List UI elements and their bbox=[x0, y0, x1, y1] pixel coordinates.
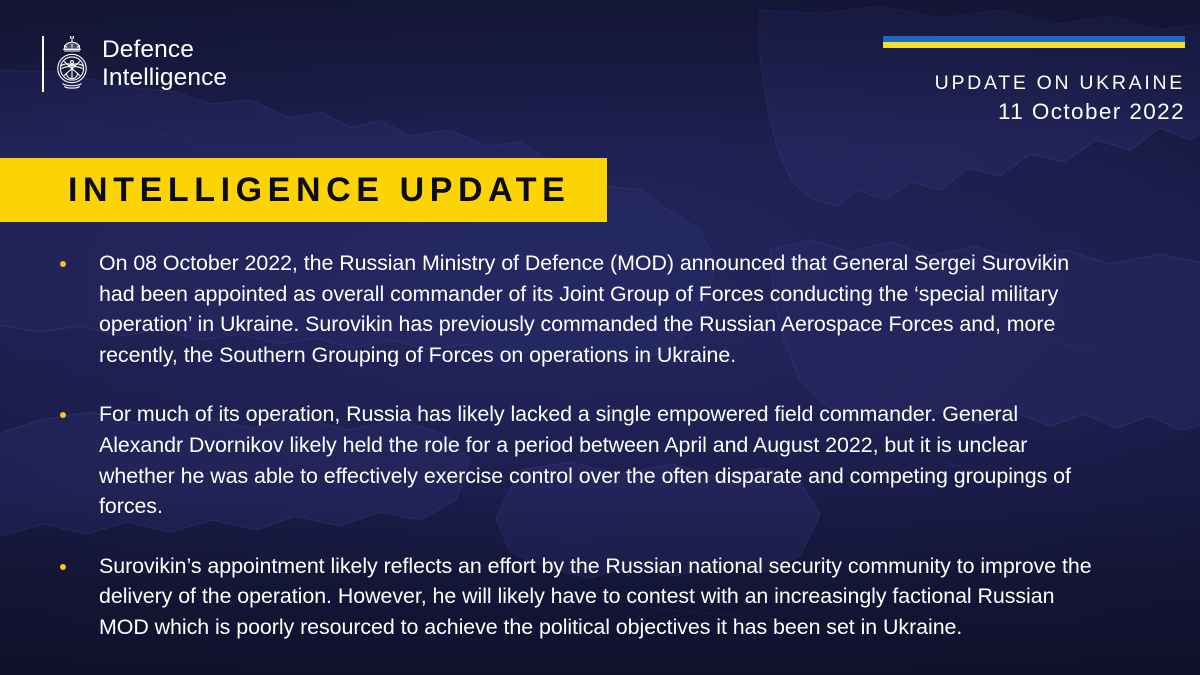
ukraine-flag-bar bbox=[883, 36, 1185, 48]
bullet-paragraph: On 08 October 2022, the Russian Ministry… bbox=[99, 248, 1099, 370]
list-item: On 08 October 2022, the Russian Ministry… bbox=[60, 248, 1170, 370]
bullet-dot-icon bbox=[60, 412, 66, 418]
header-right-block: UPDATE ON UKRAINE 11 October 2022 bbox=[883, 36, 1185, 127]
banner-title: INTELLIGENCE UPDATE bbox=[68, 173, 570, 207]
list-item: For much of its operation, Russia has li… bbox=[60, 399, 1170, 521]
intelligence-update-slide: Defence Intelligence UPDATE ON UKRAINE 1… bbox=[0, 0, 1200, 675]
brand-title-line-2: Intelligence bbox=[102, 64, 227, 92]
intelligence-update-banner: INTELLIGENCE UPDATE bbox=[0, 158, 607, 222]
bullet-paragraph: For much of its operation, Russia has li… bbox=[99, 399, 1099, 521]
vertical-rule-icon bbox=[42, 36, 44, 92]
bullet-dot-icon bbox=[60, 564, 66, 570]
update-date: 11 October 2022 bbox=[883, 97, 1185, 127]
brand-lockup: Defence Intelligence bbox=[42, 36, 227, 92]
defence-intelligence-crest-icon bbox=[54, 36, 90, 92]
bullet-list: On 08 October 2022, the Russian Ministry… bbox=[60, 248, 1170, 643]
bullet-paragraph: Surovikin’s appointment likely reflects … bbox=[99, 551, 1099, 643]
bullet-dot-icon bbox=[60, 261, 66, 267]
flag-stripe-yellow bbox=[883, 42, 1185, 48]
header: Defence Intelligence UPDATE ON UKRAINE 1… bbox=[0, 0, 1200, 150]
list-item: Surovikin’s appointment likely reflects … bbox=[60, 551, 1170, 643]
brand-title: Defence Intelligence bbox=[102, 36, 227, 92]
brand-title-line-1: Defence bbox=[102, 36, 227, 64]
update-label: UPDATE ON UKRAINE bbox=[883, 70, 1185, 96]
